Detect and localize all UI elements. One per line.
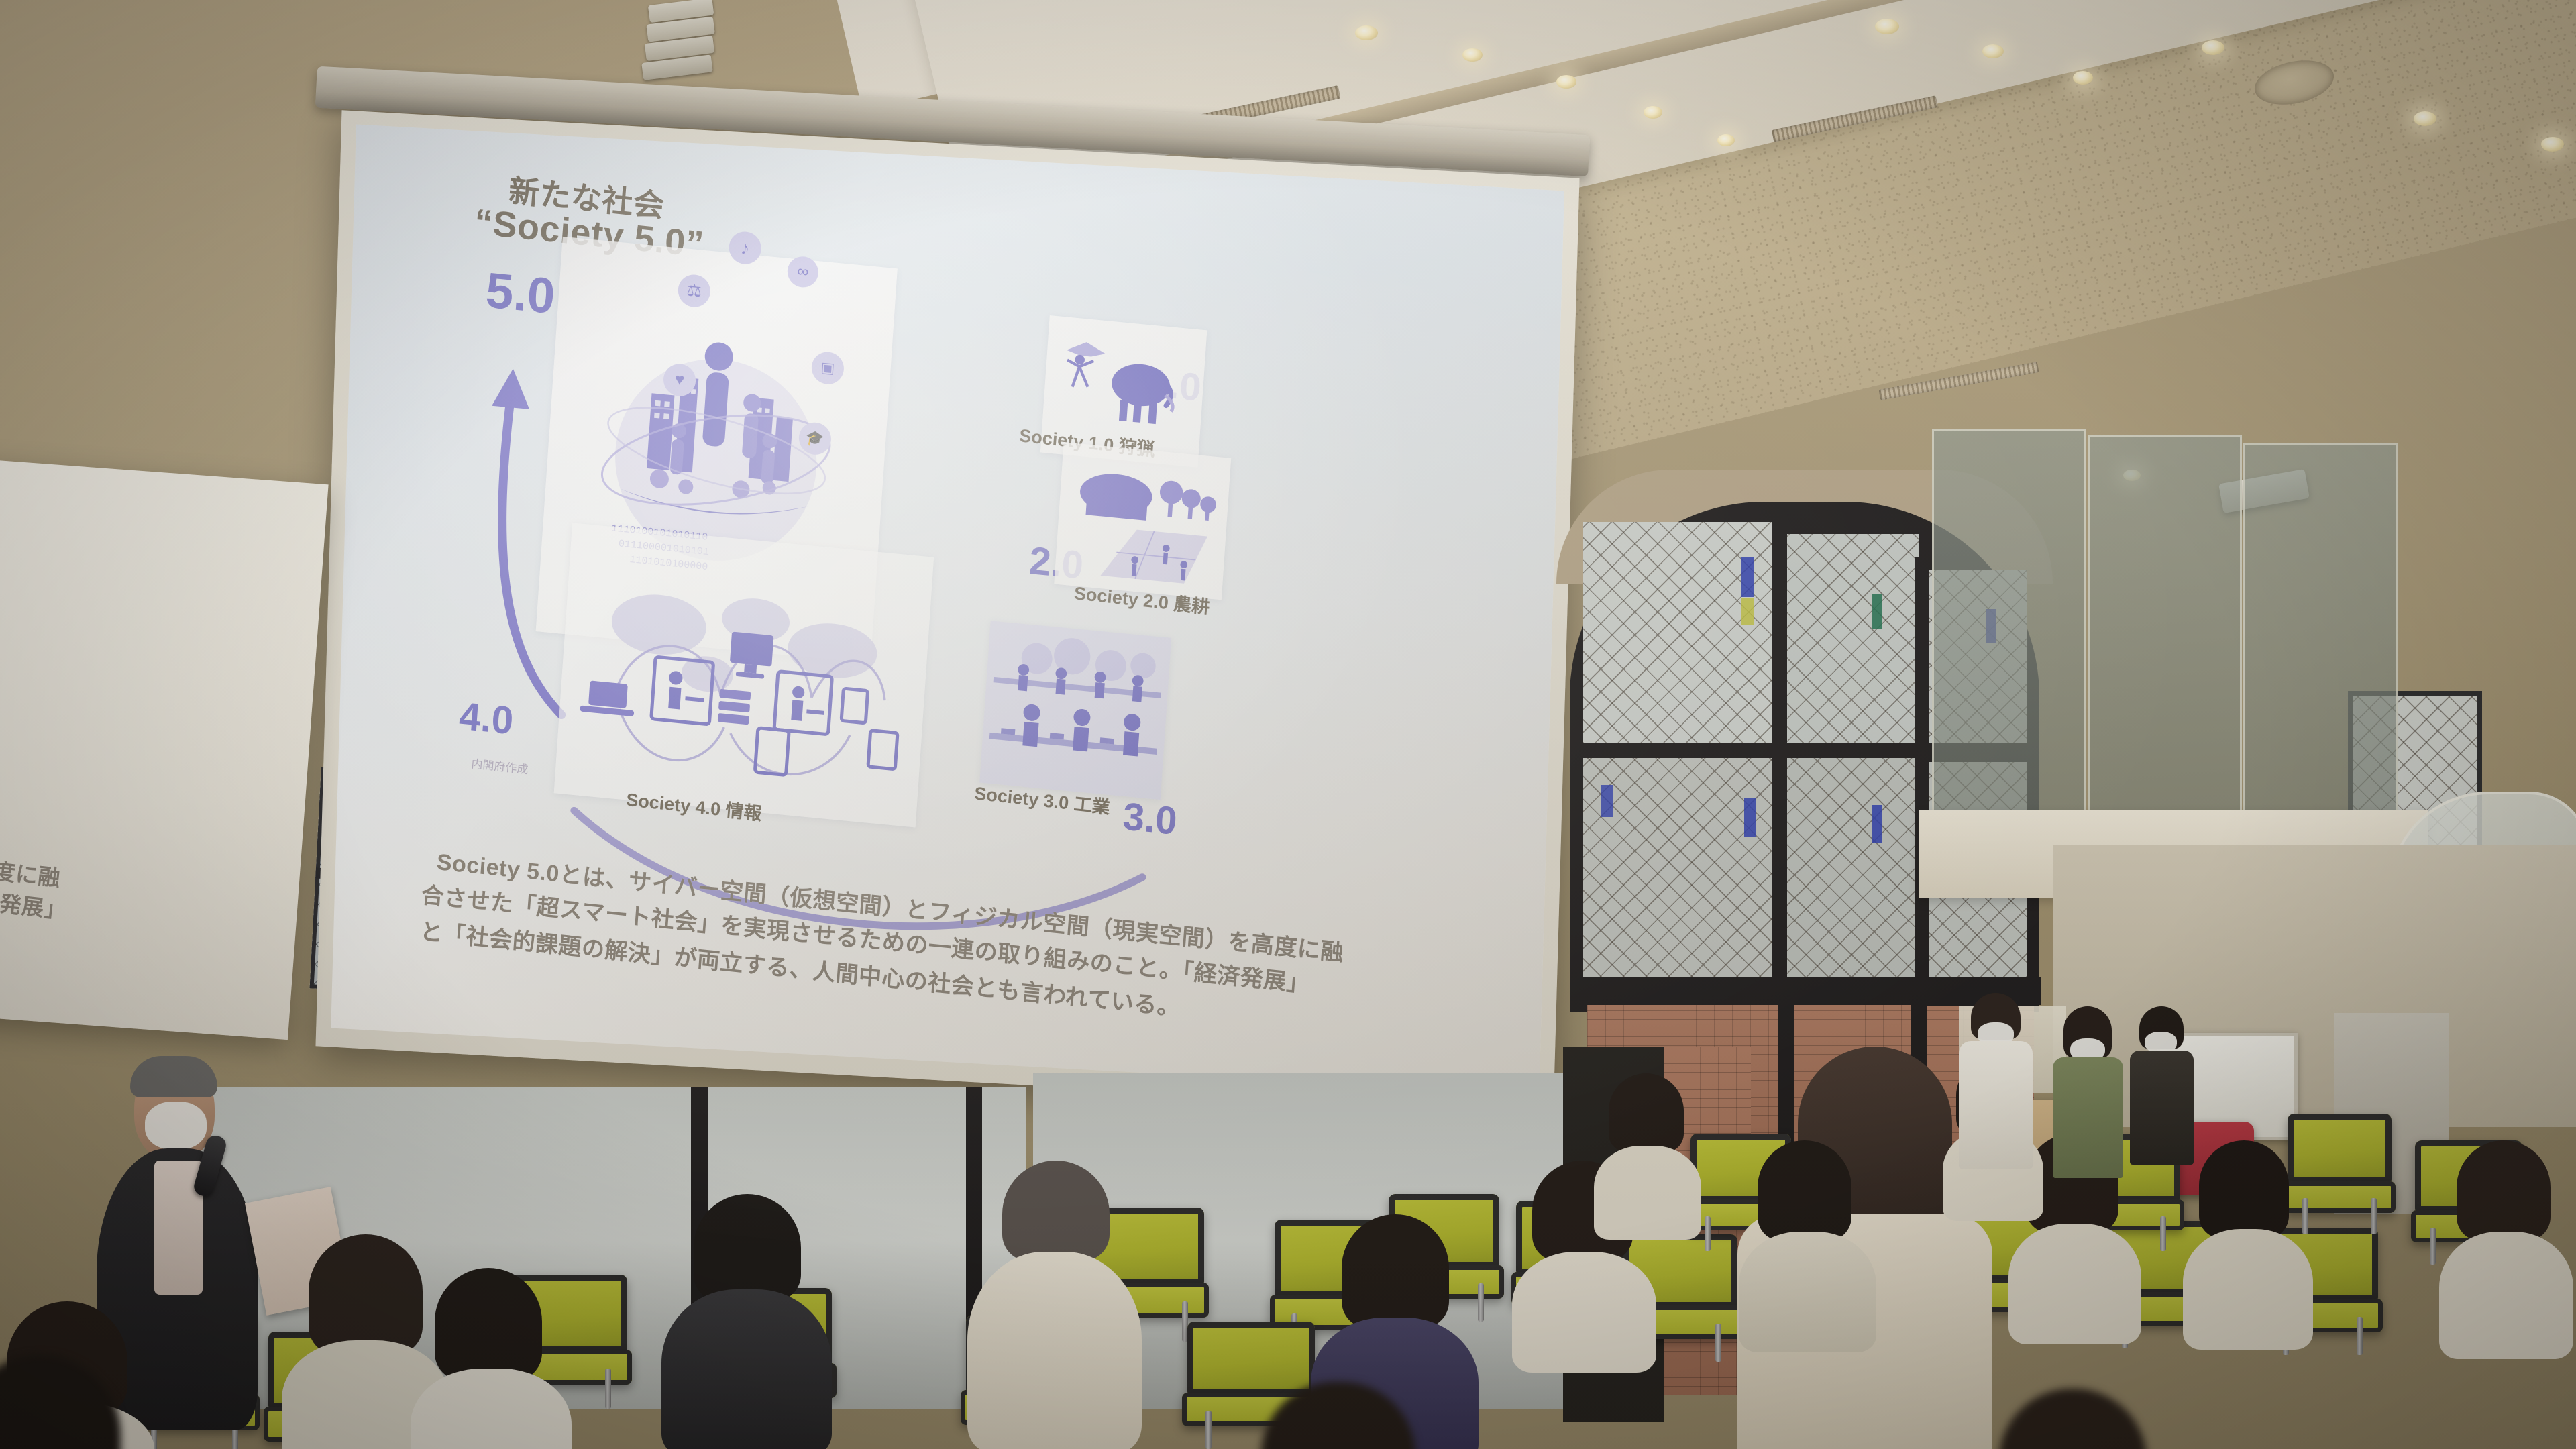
presenter-hair: [130, 1056, 217, 1097]
foreground-attendee: [1261, 1382, 1436, 1449]
attendee-hair: [309, 1234, 423, 1355]
secondary-projection-screen: 間）を高度に融 「経済発展」: [0, 456, 329, 1040]
downlight: [1875, 19, 1899, 34]
projected-slide: 新たな社会 “Society 5.0” 5.0 4.0 3.0 2.0 1.0: [331, 124, 1564, 1094]
mezzanine-glass-panel: [2088, 435, 2242, 849]
agriculture-illustration: [1063, 451, 1223, 595]
staff-jacket: [2053, 1057, 2123, 1178]
information-network-illustration: [567, 536, 921, 818]
attendee: [1597, 1073, 1697, 1228]
downlight: [1982, 44, 2004, 58]
presenter-face-mask: [145, 1102, 207, 1150]
attendee-torso: [2439, 1232, 2573, 1359]
attendee-hair: [2199, 1140, 2289, 1238]
attendee: [1744, 1140, 1872, 1342]
staff-member: [2130, 1006, 2194, 1161]
attendee-hair: [1002, 1161, 1110, 1261]
downlight: [2414, 111, 2436, 126]
attendee-hair: [1342, 1214, 1449, 1328]
attendee-torso: [1594, 1146, 1701, 1240]
attendee-torso: [1739, 1232, 1876, 1352]
attendee: [2442, 1140, 2569, 1355]
downlight: [1644, 106, 1662, 119]
projection-screen: 新たな社会 “Society 5.0” 5.0 4.0 3.0 2.0 1.0: [315, 110, 1579, 1114]
attendee-hair: [2457, 1140, 2551, 1241]
stained-accent-pane: [1744, 798, 1756, 837]
society-4-card: [554, 523, 934, 827]
downlight: [2541, 137, 2564, 152]
society-3-card: [979, 621, 1171, 800]
staff-coat: [1959, 1041, 2033, 1169]
downlight: [2202, 40, 2224, 55]
downlight: [2073, 71, 2093, 85]
attendee: [671, 1194, 825, 1449]
attendee-hair: [1758, 1140, 1851, 1241]
line-array-speaker-left: [640, 0, 729, 78]
secondary-screen-line-1: 間）を高度に融: [0, 847, 62, 895]
mezzanine-glass-panel: [2243, 443, 2398, 852]
attendee-hair: [1609, 1073, 1684, 1152]
society-2-card: [1054, 442, 1231, 600]
attendee-shirt: [967, 1252, 1142, 1449]
industry-illustration: [987, 628, 1164, 790]
attendee-suit: [661, 1289, 832, 1449]
attendee-torso: [411, 1368, 572, 1449]
staff-top: [2130, 1051, 2194, 1165]
stained-accent-pane: [1872, 805, 1882, 843]
foreground-attendee: [0, 1355, 148, 1449]
attendee: [973, 1161, 1140, 1449]
foreground-attendee: [1999, 1389, 2167, 1449]
stage-number-3: 3.0: [1122, 794, 1179, 844]
stained-accent-pane: [1741, 598, 1754, 625]
stained-accent-pane: [1601, 785, 1613, 817]
downlight: [1556, 75, 1576, 89]
staff-member: [2053, 1006, 2123, 1174]
attendee-torso: [1512, 1252, 1656, 1373]
stained-accent-pane: [1872, 594, 1882, 629]
staff-member: [1959, 993, 2033, 1167]
attendee-torso: [2183, 1229, 2313, 1350]
attendee-hair: [435, 1268, 542, 1381]
attendee: [416, 1268, 563, 1449]
slide-credit: 内閣府作成: [471, 754, 529, 777]
stained-accent-pane: [1741, 557, 1754, 597]
attendee: [2187, 1140, 2308, 1342]
mezzanine-glass-panel: [1932, 429, 2086, 845]
downlight: [1717, 134, 1735, 146]
attendee-torso: [2008, 1224, 2141, 1344]
photo-scene: 新たな社会 “Society 5.0” 5.0 4.0 3.0 2.0 1.0: [0, 0, 2576, 1449]
attendee-hair: [694, 1194, 801, 1301]
downlight: [1355, 25, 1378, 40]
downlight: [1462, 48, 1483, 62]
